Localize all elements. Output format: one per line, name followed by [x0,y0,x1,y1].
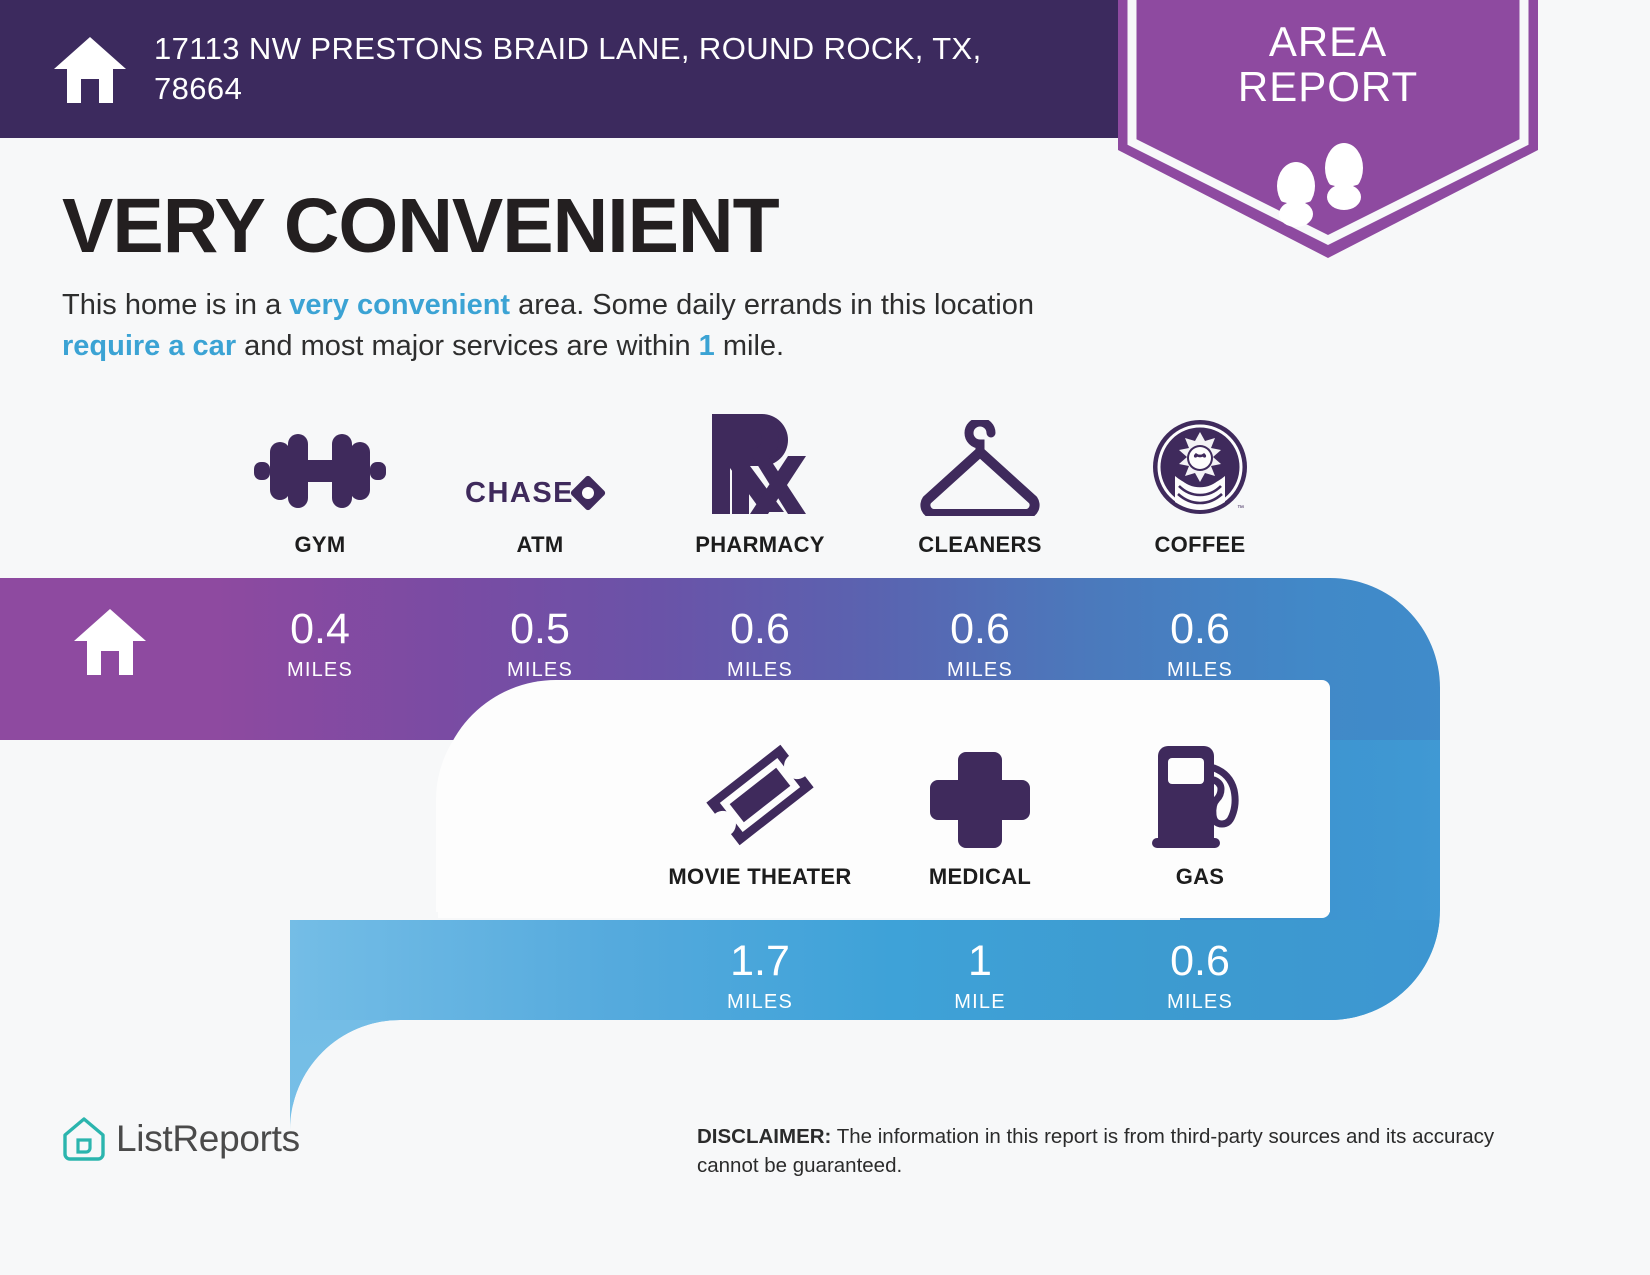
listreports-wordmark: ListReports [116,1118,300,1160]
distance-cell: 0.5 MILES [430,608,650,682]
distance-unit: MILES [210,659,430,682]
disclaimer-label: DISCLAIMER: [697,1125,831,1148]
amenity-label: MOVIE THEATER [668,864,851,890]
amenity-gas: GAS [1090,752,1310,890]
summary-part-1: This home is in a [62,289,289,321]
summary-highlight-2: require a car [62,330,236,362]
ticket-icon [705,752,815,848]
distance-unit: MILES [870,659,1090,682]
distance-unit: MILES [1090,659,1310,682]
home-marker-icon [72,605,148,677]
distance-cell: 0.6 MILES [1090,940,1310,1014]
distance-cell: 0.4 MILES [210,608,430,682]
hanger-icon [915,420,1045,516]
summary-part-3: and most major services are within [236,330,699,362]
distance-value: 0.6 [870,608,1090,651]
svg-text:™: ™ [1237,505,1244,512]
disclaimer: DISCLAIMER: The information in this repo… [697,1122,1507,1180]
amenity-row-1: GYM CHASE ATM [210,420,1310,558]
rx-icon [710,420,810,516]
distance-cell: 0.6 MILES [1090,608,1310,682]
amenity-pharmacy: PHARMACY [650,420,870,558]
gas-pump-icon [1148,752,1252,848]
area-report-badge: AREA REPORT [1118,0,1538,258]
svg-text:CHASE: CHASE [465,477,574,509]
distance-value: 0.4 [210,608,430,651]
distance-cell: 1 MILE [870,940,1090,1014]
summary-highlight-3: 1 [699,330,715,362]
amenity-movie-theater: MOVIE THEATER [650,752,870,890]
page-title: VERY CONVENIENT [62,188,779,265]
amenity-coffee: ™ COFFEE [1090,420,1310,558]
property-address: 17113 NW PRESTONS BRAID LANE, ROUND ROCK… [154,29,1034,110]
distance-value: 0.5 [430,608,650,651]
distance-unit: MILES [650,659,870,682]
amenity-label: COFFEE [1154,532,1245,558]
dumbbell-icon [254,420,386,516]
amenity-label: GYM [294,532,345,558]
infographic-canvas: 17113 NW PRESTONS BRAID LANE, ROUND ROCK… [0,0,1650,1275]
amenity-label: PHARMACY [695,532,825,558]
amenity-cleaners: CLEANERS [870,420,1090,558]
distance-value: 1.7 [650,940,870,983]
amenity-label: GAS [1176,864,1225,890]
footprints-icon [1266,138,1376,228]
chase-logo-icon: CHASE [465,420,615,516]
listreports-house-icon [62,1116,106,1162]
summary-highlight-1: very convenient [289,289,510,321]
distance-value: 0.6 [1090,608,1310,651]
distance-value: 1 [870,940,1090,983]
distance-cell: 0.6 MILES [870,608,1090,682]
distance-unit: MILES [1090,991,1310,1014]
header-bar: 17113 NW PRESTONS BRAID LANE, ROUND ROCK… [0,0,1183,138]
summary-text: This home is in a very convenient area. … [62,285,1122,367]
amenity-row-2: MOVIE THEATER MEDICAL [650,752,1310,890]
amenity-label: MEDICAL [929,864,1031,890]
distance-cell: 1.7 MILES [650,940,870,1014]
listreports-logo: ListReports [62,1116,300,1162]
summary-part-2: area. Some daily errands in this locatio… [510,289,1034,321]
distance-unit: MILES [650,991,870,1014]
distance-value: 0.6 [1090,940,1310,983]
home-icon [52,33,128,105]
amenity-atm: CHASE ATM [430,420,650,558]
distance-values-row-2: 1.7 MILES 1 MILE 0.6 MILES [650,940,1310,1014]
distance-unit: MILE [870,991,1090,1014]
distance-unit: MILES [430,659,650,682]
amenity-gym: GYM [210,420,430,558]
distance-value: 0.6 [650,608,870,651]
summary-part-4: mile. [715,330,784,362]
distance-cell: 0.6 MILES [650,608,870,682]
amenity-label: CLEANERS [918,532,1041,558]
distance-values-row-1: 0.4 MILES 0.5 MILES 0.6 MILES 0.6 MILES … [210,608,1310,682]
amenity-medical: MEDICAL [870,752,1090,890]
starbucks-logo-icon: ™ [1151,420,1249,516]
medical-cross-icon [930,752,1030,848]
amenity-label: ATM [517,532,564,558]
